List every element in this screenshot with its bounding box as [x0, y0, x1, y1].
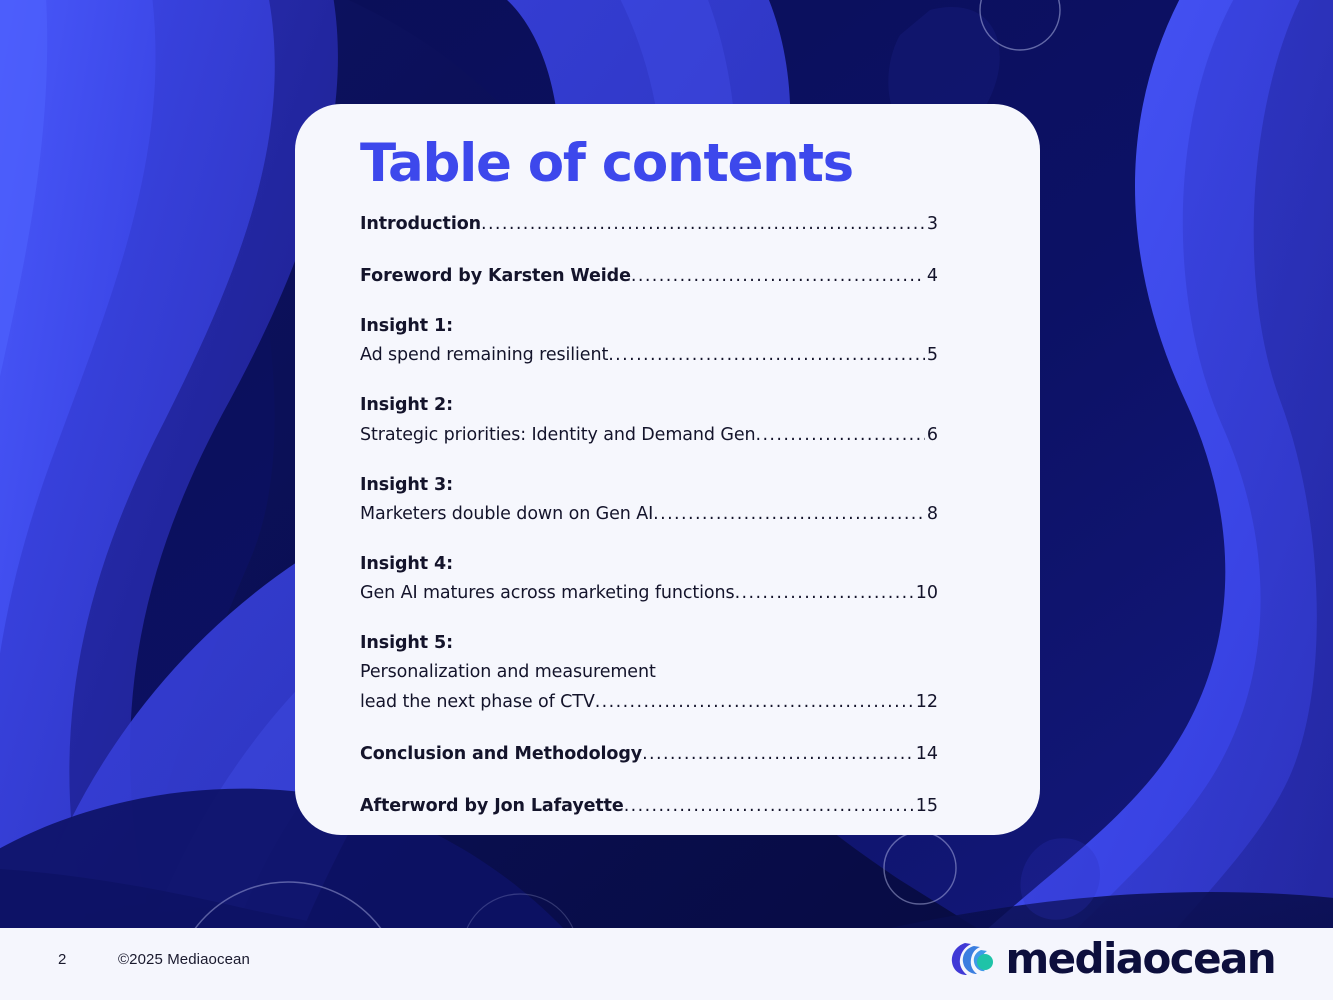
toc-entry-text: lead the next phase of CTV: [360, 687, 595, 717]
toc-entry[interactable]: Insight 4: Gen AI matures across marketi…: [360, 551, 938, 608]
mediaocean-mark-icon: [951, 940, 995, 978]
dot-leader: ........................................…: [642, 739, 914, 769]
toc-entry-text: Conclusion and Methodology: [360, 739, 642, 769]
toc-entry-page: 8: [925, 499, 938, 529]
toc-entry-text-line1: Personalization and measurement: [360, 657, 938, 687]
toc-entry-page: 10: [914, 578, 938, 608]
toc-entry-row: Ad spend remaining resilient ...........…: [360, 340, 938, 370]
dot-leader: ........................................…: [735, 578, 914, 608]
toc-entry-page: 14: [914, 739, 938, 769]
dot-leader: ........................................…: [755, 420, 924, 450]
toc-entry-text: Ad spend remaining resilient: [360, 340, 608, 370]
toc-entry-text: Strategic priorities: Identity and Deman…: [360, 420, 755, 450]
toc-entry[interactable]: Insight 5: Personalization and measureme…: [360, 630, 938, 717]
dot-leader: ........................................…: [653, 499, 925, 529]
toc-entry-text: Afterword by Jon Lafayette: [360, 791, 624, 821]
dot-leader: ........................................…: [624, 791, 914, 821]
toc-entry-row: lead the next phase of CTV .............…: [360, 687, 938, 717]
dot-leader: ........................................…: [481, 209, 925, 239]
toc-entry-row: Introduction ...........................…: [360, 209, 938, 239]
toc-entry-label: Insight 2:: [360, 392, 938, 419]
toc-entry-row: Marketers double down on Gen AI ........…: [360, 499, 938, 529]
footer-page-number: 2: [58, 951, 67, 968]
mediaocean-logo[interactable]: mediaocean: [951, 938, 1275, 980]
toc-entry-text: Foreword by Karsten Weide: [360, 261, 631, 291]
toc-entry-label: Insight 4:: [360, 551, 938, 578]
toc-entry[interactable]: Insight 1: Ad spend remaining resilient …: [360, 313, 938, 370]
toc-entry-page: 5: [925, 340, 938, 370]
dot-leader: ........................................…: [595, 687, 914, 717]
toc-entry[interactable]: Insight 2: Strategic priorities: Identit…: [360, 392, 938, 449]
toc-entry[interactable]: Foreword by Karsten Weide ..............…: [360, 261, 938, 291]
toc-list: Introduction ...........................…: [360, 209, 938, 822]
toc-entry-page: 4: [925, 261, 938, 291]
dot-leader: ........................................…: [608, 340, 925, 370]
toc-entry[interactable]: Afterword by Jon Lafayette .............…: [360, 791, 938, 821]
toc-entry-page: 12: [914, 687, 938, 717]
toc-entry-text: Marketers double down on Gen AI: [360, 499, 653, 529]
toc-entry-page: 6: [925, 420, 938, 450]
toc-entry-label: Insight 1:: [360, 313, 938, 340]
toc-entry-label: Insight 5:: [360, 630, 938, 657]
toc-entry-row: Afterword by Jon Lafayette .............…: [360, 791, 938, 821]
toc-card: Table of contents Introduction .........…: [295, 104, 1040, 835]
toc-entry[interactable]: Introduction ...........................…: [360, 209, 938, 239]
toc-entry-row: Conclusion and Methodology .............…: [360, 739, 938, 769]
toc-entry-label: Insight 3:: [360, 472, 938, 499]
footer-copyright: ©2025 Mediaocean: [118, 951, 250, 968]
toc-entry[interactable]: Insight 3: Marketers double down on Gen …: [360, 472, 938, 529]
toc-entry-text: Introduction: [360, 209, 481, 239]
toc-entry-row: Foreword by Karsten Weide ..............…: [360, 261, 938, 291]
toc-entry-page: 3: [925, 209, 938, 239]
presentation-slide: Table of contents Introduction .........…: [0, 0, 1333, 1000]
toc-entry-row: Gen AI matures across marketing function…: [360, 578, 938, 608]
dot-leader: ........................................…: [631, 261, 925, 291]
toc-entry-page: 15: [914, 791, 938, 821]
toc-entry[interactable]: Conclusion and Methodology .............…: [360, 739, 938, 769]
mediaocean-wordmark: mediaocean: [1005, 938, 1275, 980]
toc-entry-row: Strategic priorities: Identity and Deman…: [360, 420, 938, 450]
toc-entry-text: Gen AI matures across marketing function…: [360, 578, 735, 608]
page-title: Table of contents: [360, 132, 853, 196]
